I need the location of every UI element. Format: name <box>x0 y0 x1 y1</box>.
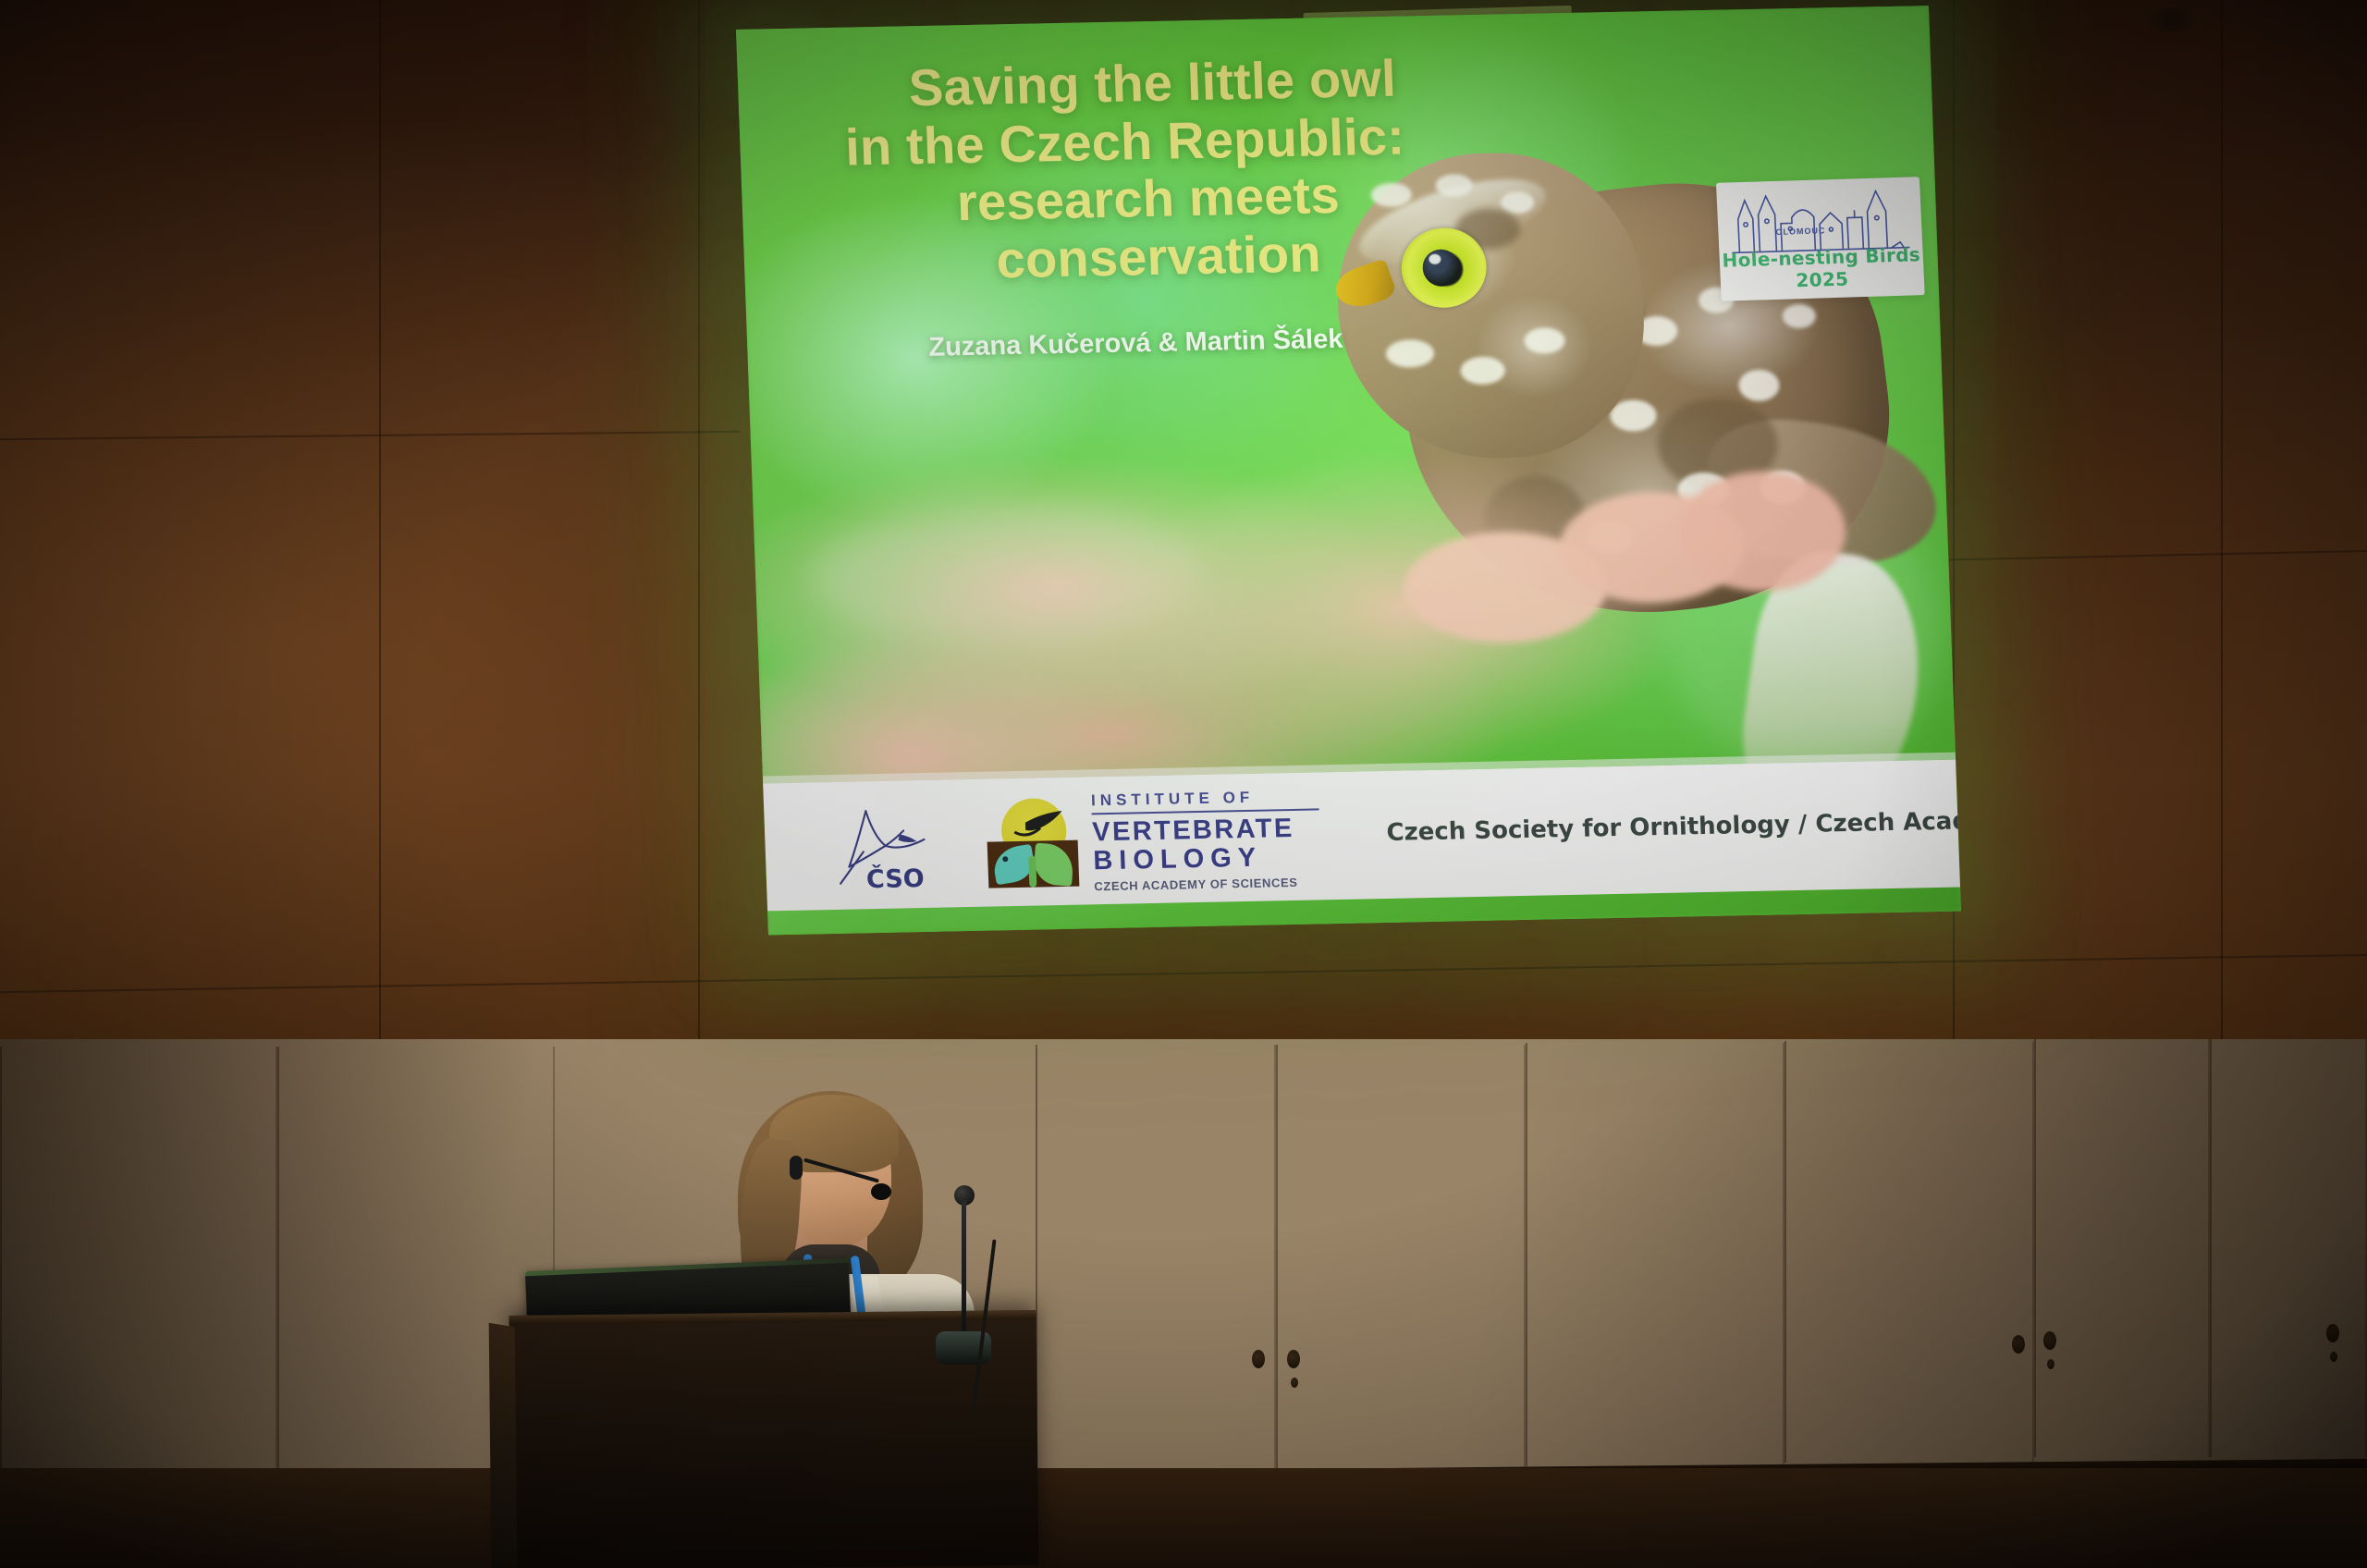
projection-screen: Saving the little owl in the Czech Repub… <box>736 6 1961 935</box>
ivb-logo: INSTITUTE OF VERTEBRATE BIOLOGY CZECH AC… <box>984 781 1330 897</box>
cso-logo: ČSO <box>830 792 954 897</box>
ivb-line-1: INSTITUTE OF <box>1091 787 1325 810</box>
ivb-line-3: BIOLOGY <box>1093 843 1327 876</box>
cso-label: ČSO <box>865 864 925 894</box>
slide-footer-text: Czech Society for Ornithology / Czech Ac… <box>1386 803 1961 847</box>
slide-title: Saving the little owl in the Czech Repub… <box>755 48 1503 295</box>
conference-logo: OLOMOUC Hole-nesting Birds 2025 <box>1716 177 1925 301</box>
olomouc-label: OLOMOUC <box>1775 226 1825 237</box>
conference-logo-caption: Hole-nesting Birds 2025 <box>1719 243 1924 294</box>
headset-earpiece-icon <box>790 1156 803 1180</box>
floor <box>0 1468 2367 1568</box>
lecture-hall-scene: Saving the little owl in the Czech Repub… <box>0 0 2367 1568</box>
ivb-line-2: VERTEBRATE <box>1092 814 1326 847</box>
ivb-mark-icon <box>984 798 1083 888</box>
headset-microphone-icon <box>871 1183 891 1200</box>
ivb-line-4: CZECH ACADEMY OF SCIENCES <box>1094 875 1328 893</box>
ceiling-vent <box>2145 7 2197 31</box>
presentation-slide: Saving the little owl in the Czech Repub… <box>736 6 1961 935</box>
slide-footer-band: ČSO <box>763 760 1960 912</box>
